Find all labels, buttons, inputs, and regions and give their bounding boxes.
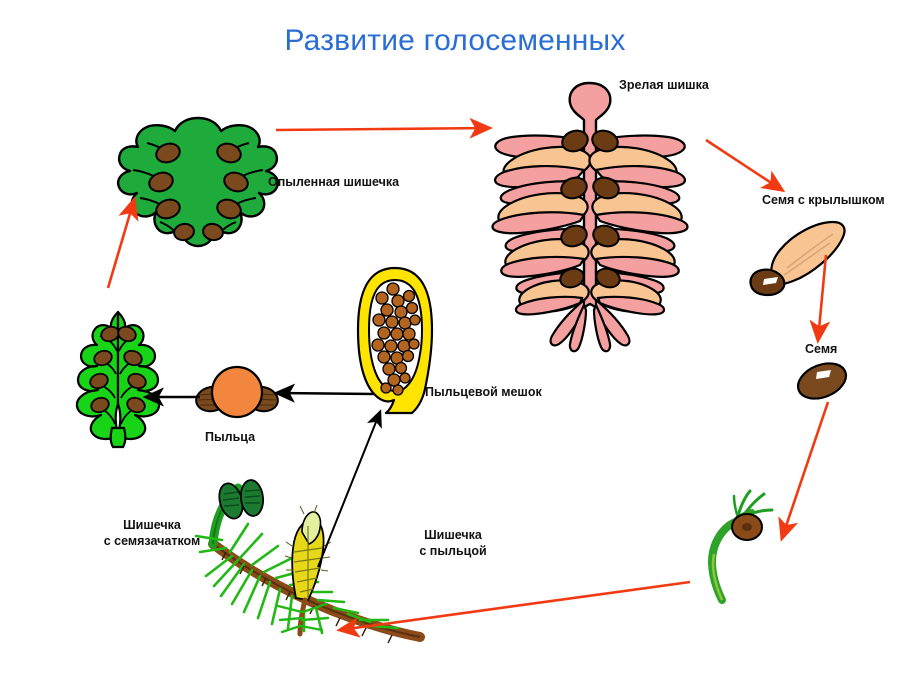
gymnosperm-life-cycle-illustration: [0, 0, 910, 683]
young-cone-graphic: [77, 312, 159, 447]
label-seed: Семя: [805, 342, 837, 358]
seed-graphic: [793, 357, 851, 405]
label-pollinated-cone: Опыленная шишечка: [268, 175, 399, 191]
label-winged-seed: Семя с крылышком: [762, 193, 885, 209]
label-cone-with-ovule: Шишечка с семязачатком: [82, 518, 222, 549]
label-pollen: Пыльца: [205, 430, 255, 446]
pollinated-cone-graphic: [118, 118, 278, 246]
pine-branch-graphic: [196, 479, 420, 643]
label-pollen-sac: Пыльцевой мешок: [425, 385, 542, 401]
arrow-young-cone-to-pollinated: [108, 200, 134, 288]
label-cone-with-pollen: Шишечка с пыльцой: [388, 528, 518, 559]
seedling-graphic: [712, 491, 772, 600]
arrow-mature-to-winged-seed: [706, 140, 782, 190]
arrow-seedling-to-branch: [340, 582, 690, 630]
arrow-pollen-sac-to-pollen: [277, 393, 374, 394]
label-mature-cone: Зрелая шишка: [619, 78, 709, 94]
arrow-winged-seed-to-seed: [818, 255, 826, 340]
mature-cone-graphic: [493, 83, 688, 351]
arrow-pollinated-to-mature: [276, 128, 489, 130]
pollen-sac-graphic: [358, 268, 432, 413]
arrow-male-cone-to-pollen-sac: [318, 412, 380, 567]
pollen-grain-graphic: [194, 367, 280, 417]
winged-seed-graphic: [750, 222, 844, 295]
arrow-seed-to-seedling: [782, 402, 828, 538]
diagram-canvas: Развитие голосеменных: [0, 0, 910, 683]
